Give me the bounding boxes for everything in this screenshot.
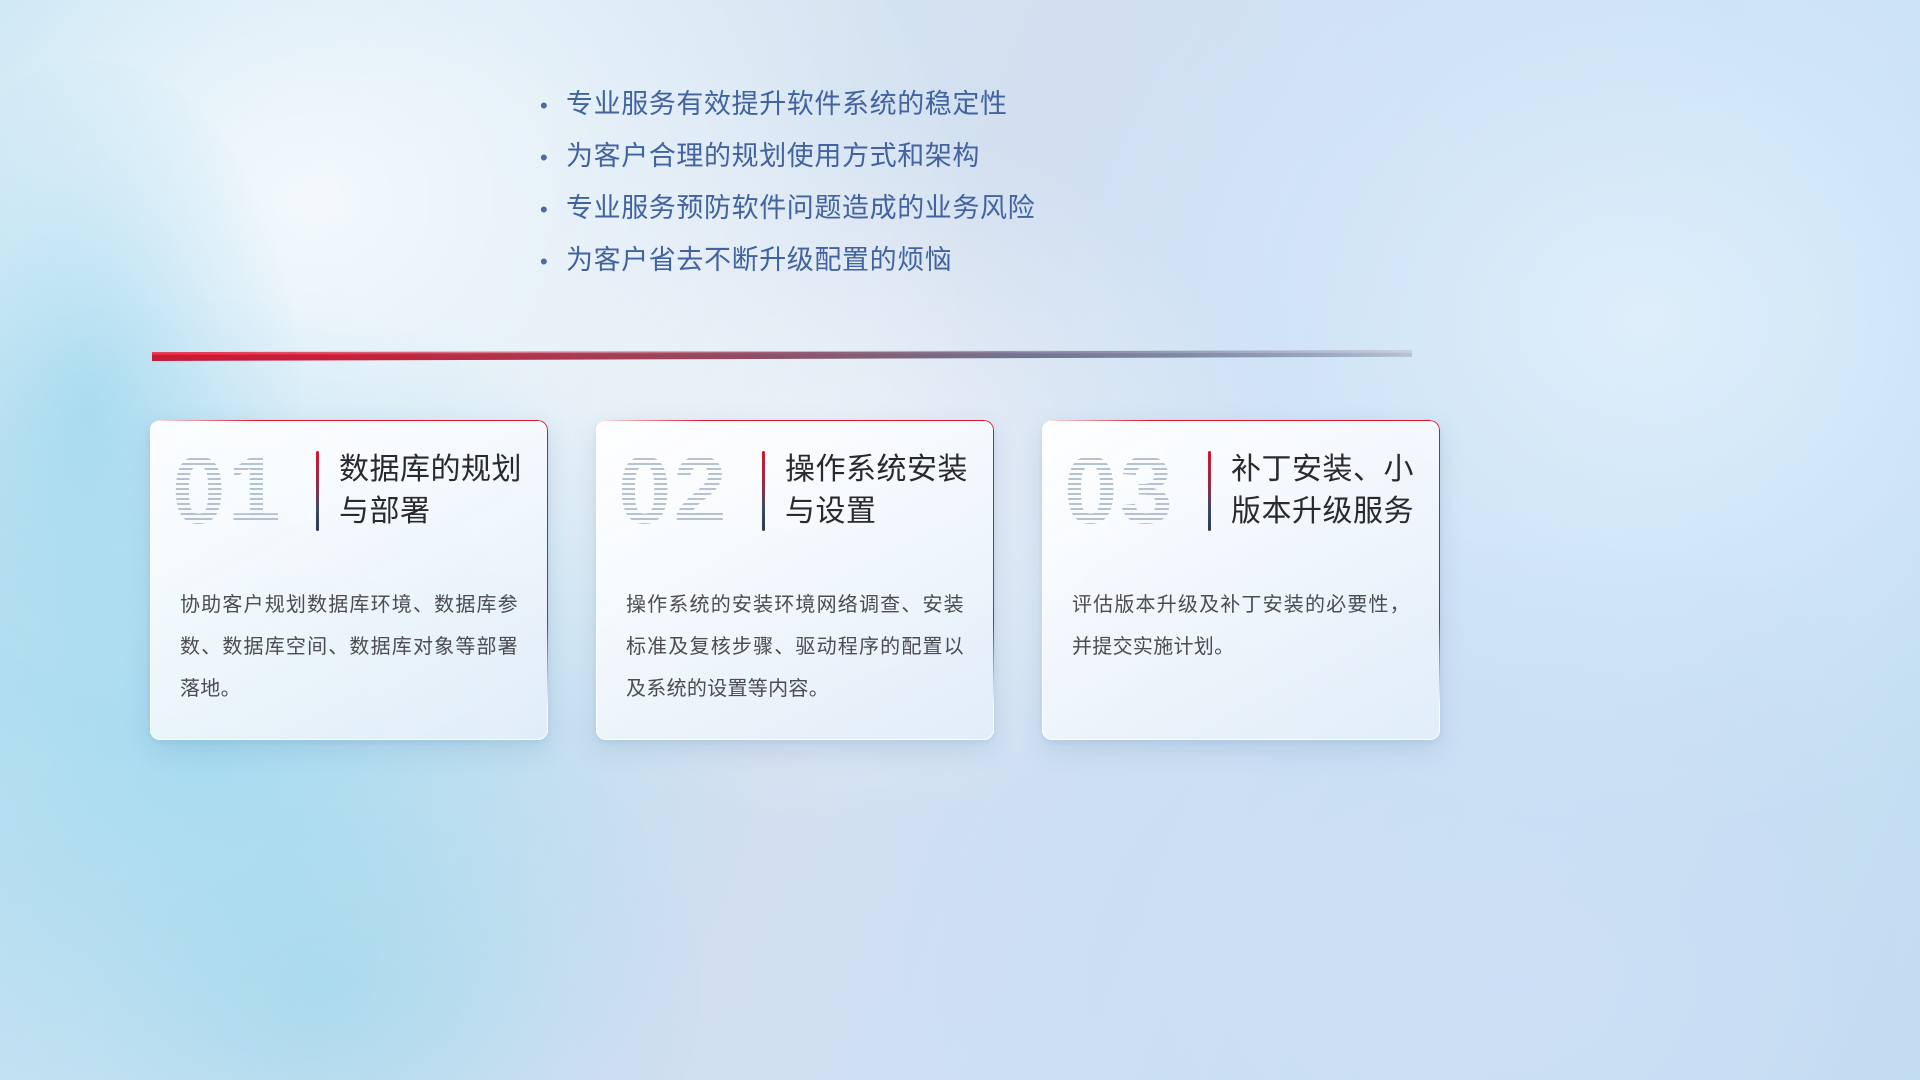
list-item: • 专业服务预防软件问题造成的业务风险	[540, 192, 1440, 225]
bullet-text: 为客户省去不断升级配置的烦恼	[566, 244, 952, 277]
card-number-watermark: 01	[172, 443, 310, 539]
background-glow-bottom-left	[0, 680, 700, 1080]
card-number-watermark: 02	[618, 443, 756, 539]
card-title-rule	[316, 451, 319, 531]
bullet-marker-icon: •	[540, 89, 566, 122]
section-divider	[152, 350, 1412, 361]
card-title-rule	[762, 451, 765, 531]
bullet-text: 专业服务有效提升软件系统的稳定性	[566, 88, 1008, 121]
bullet-marker-icon: •	[540, 245, 566, 278]
list-item: • 专业服务有效提升软件系统的稳定性	[540, 88, 1440, 121]
bullet-marker-icon: •	[540, 141, 566, 174]
card-title: 补丁安装、小版本升级服务	[1231, 449, 1414, 533]
list-item: • 为客户省去不断升级配置的烦恼	[540, 244, 1440, 277]
card-header: 01 数据库的规划与部署	[150, 420, 548, 562]
card-body-text: 评估版本升级及补丁安装的必要性，并提交实施计划。	[1042, 562, 1440, 668]
service-card-02[interactable]: 02 操作系统安装与设置 操作系统的安装环境网络调查、安装标准及复核步骤、驱动程…	[596, 420, 994, 740]
card-number-watermark: 03	[1064, 443, 1202, 539]
service-card-01[interactable]: 01 数据库的规划与部署 协助客户规划数据库环境、数据库参数、数据库空间、数据库…	[150, 420, 548, 740]
card-title: 操作系统安装与设置	[785, 449, 968, 533]
card-number-text: 01	[172, 443, 310, 539]
divider-highlight	[152, 350, 1412, 355]
bullet-marker-icon: •	[540, 193, 566, 226]
card-header: 02 操作系统安装与设置	[596, 420, 994, 562]
card-title-rule	[1208, 451, 1211, 531]
service-card-03[interactable]: 03 补丁安装、小版本升级服务 评估版本升级及补丁安装的必要性，并提交实施计划。	[1042, 420, 1440, 740]
card-body-text: 操作系统的安装环境网络调查、安装标准及复核步骤、驱动程序的配置以及系统的设置等内…	[596, 562, 994, 710]
list-item: • 为客户合理的规划使用方式和架构	[540, 140, 1440, 173]
card-number-text: 03	[1064, 443, 1202, 539]
bullet-text: 专业服务预防软件问题造成的业务风险	[566, 192, 1035, 225]
benefits-bullet-list: • 专业服务有效提升软件系统的稳定性 • 为客户合理的规划使用方式和架构 • 专…	[540, 88, 1440, 296]
card-number-text: 02	[618, 443, 756, 539]
card-body-text: 协助客户规划数据库环境、数据库参数、数据库空间、数据库对象等部署落地。	[150, 562, 548, 710]
card-title: 数据库的规划与部署	[339, 449, 522, 533]
service-card-group: 01 数据库的规划与部署 协助客户规划数据库环境、数据库参数、数据库空间、数据库…	[150, 420, 1770, 740]
bullet-text: 为客户合理的规划使用方式和架构	[566, 140, 980, 173]
card-header: 03 补丁安装、小版本升级服务	[1042, 420, 1440, 562]
slide-canvas: • 专业服务有效提升软件系统的稳定性 • 为客户合理的规划使用方式和架构 • 专…	[0, 0, 1920, 1080]
divider-blade	[152, 350, 1412, 361]
